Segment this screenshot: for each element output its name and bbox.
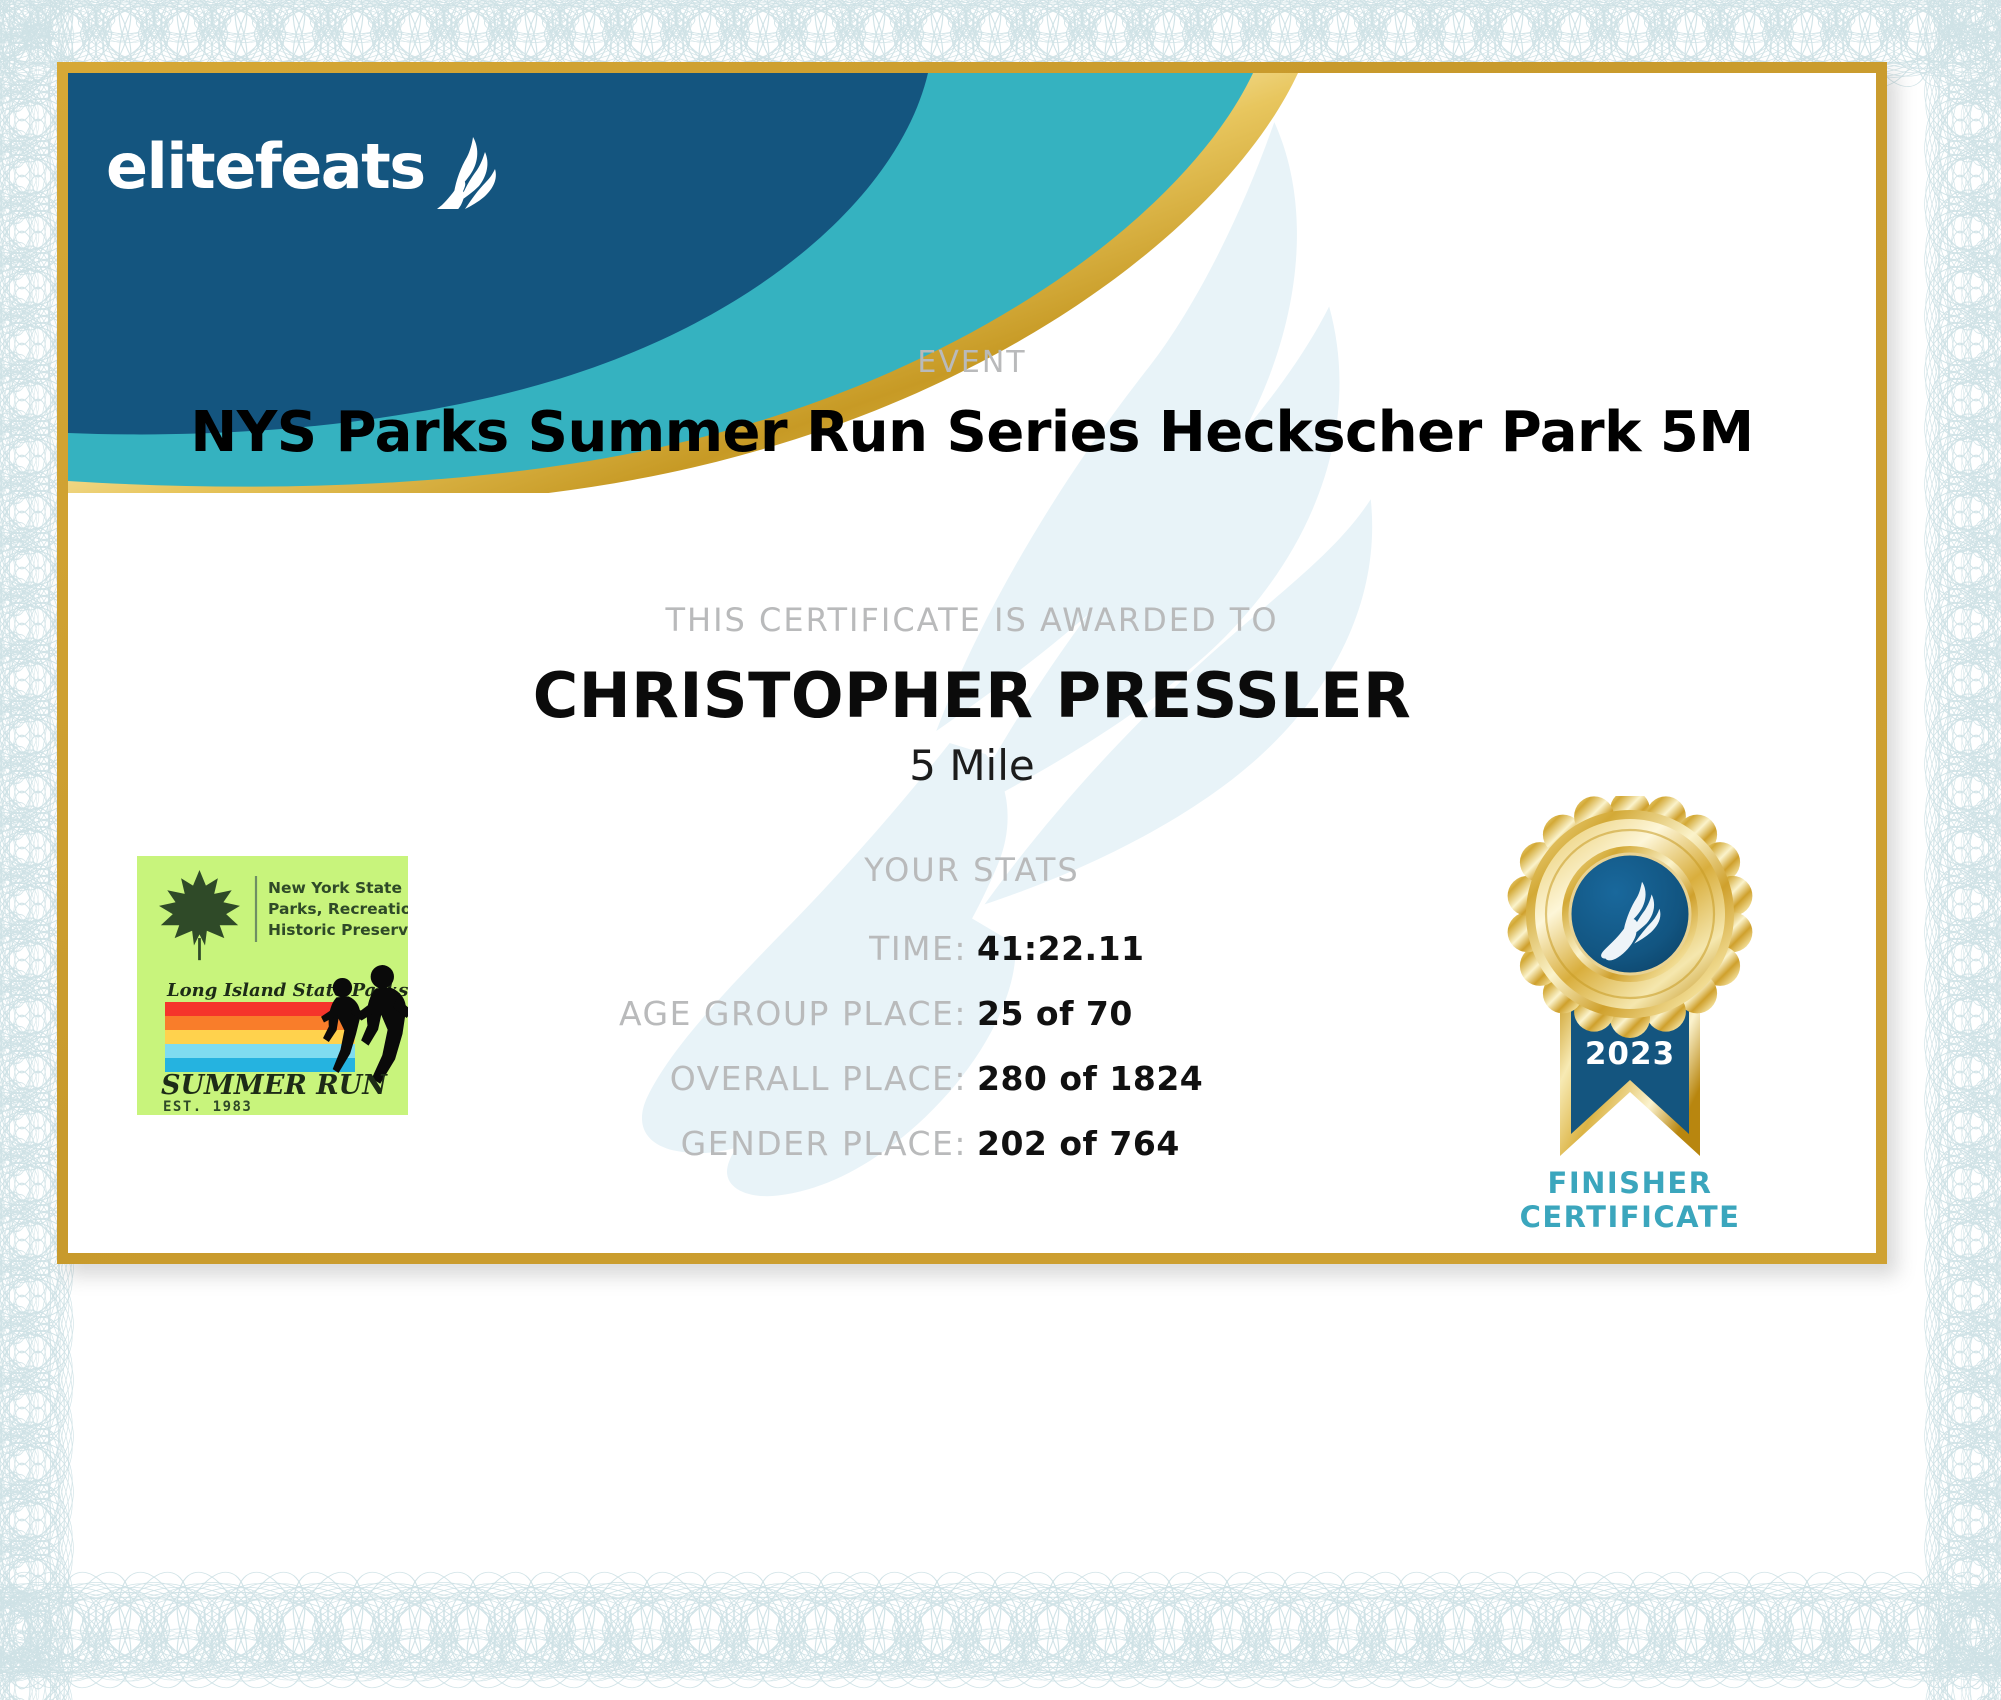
finisher-medal: 2023 bbox=[1500, 796, 1760, 1196]
stat-value-gender-place: 202 of 764 bbox=[977, 1124, 1471, 1163]
brand-logo: elitefeats bbox=[106, 125, 501, 209]
stat-value-age-group-place: 25 of 70 bbox=[977, 994, 1471, 1033]
agency-line1: New York State bbox=[268, 879, 402, 897]
race-distance: 5 Mile bbox=[68, 741, 1876, 790]
sponsor-logo: New York State Parks, Recreation and His… bbox=[137, 856, 408, 1115]
recipient-name: CHRISTOPHER PRESSLER bbox=[68, 659, 1876, 732]
event-name: SUMMER RUN bbox=[161, 1070, 388, 1101]
finisher-caption-line2: CERTIFICATE bbox=[1460, 1200, 1800, 1234]
certificate-paper: elitefeats EVENT NYS Parks Summer Run Se… bbox=[0, 0, 2001, 1700]
medal-year: 2023 bbox=[1585, 1036, 1675, 1072]
seal-rosette bbox=[1508, 796, 1753, 1038]
winged-foot-icon bbox=[425, 135, 501, 209]
awarded-to-label: THIS CERTIFICATE IS AWARDED TO bbox=[68, 601, 1876, 639]
stat-label-gender-place: GENDER PLACE: bbox=[473, 1124, 977, 1163]
finisher-certificate-caption: FINISHER CERTIFICATE bbox=[1460, 1166, 1800, 1234]
event-label: EVENT bbox=[68, 345, 1876, 380]
stat-label-age-group-place: AGE GROUP PLACE: bbox=[473, 994, 977, 1033]
stat-value-overall-place: 280 of 1824 bbox=[977, 1059, 1471, 1098]
stat-value-time: 41:22.11 bbox=[977, 929, 1471, 968]
agency-line3: Historic Preservation bbox=[268, 921, 408, 939]
gold-frame-border: elitefeats EVENT NYS Parks Summer Run Se… bbox=[57, 62, 1887, 1264]
stat-label-overall-place: OVERALL PLACE: bbox=[473, 1059, 977, 1098]
established-year: EST. 1983 bbox=[163, 1099, 252, 1115]
certificate-card: elitefeats EVENT NYS Parks Summer Run Se… bbox=[68, 73, 1876, 1253]
finisher-caption-line1: FINISHER bbox=[1460, 1166, 1800, 1200]
agency-line2: Parks, Recreation and bbox=[268, 900, 408, 918]
stat-label-time: TIME: bbox=[473, 929, 977, 968]
brand-name: elitefeats bbox=[106, 136, 425, 198]
event-title: NYS Parks Summer Run Series Heckscher Pa… bbox=[68, 400, 1876, 465]
